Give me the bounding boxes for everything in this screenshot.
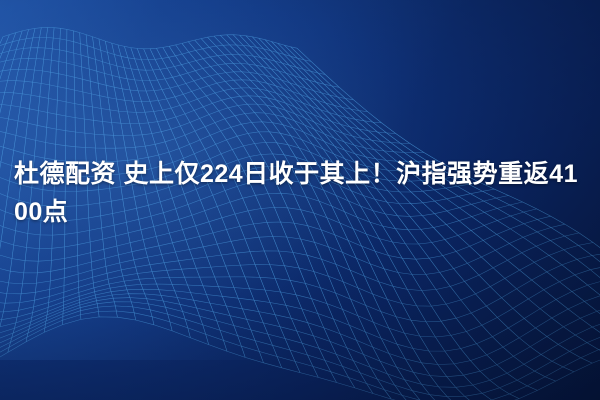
promo-banner: 杜德配资 史上仅224日收于其上！沪指强势重返4100点 <box>0 0 600 400</box>
headline-text: 杜德配资 史上仅224日收于其上！沪指强势重返4100点 <box>0 155 600 231</box>
